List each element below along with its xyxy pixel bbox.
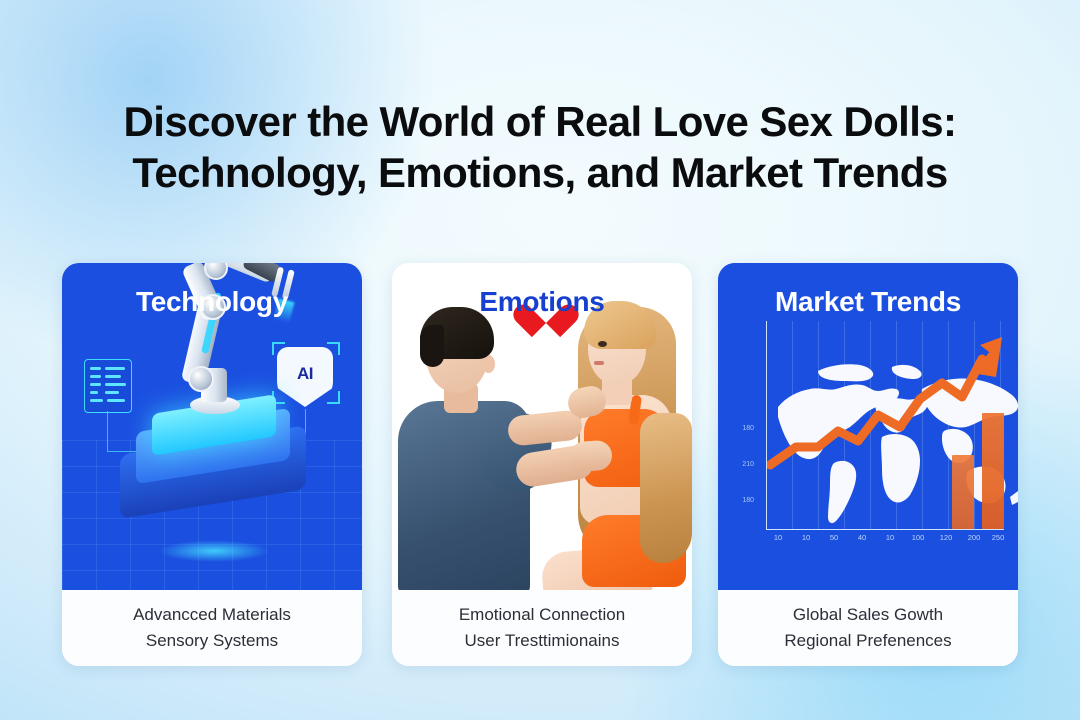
x-tick-label: 250 bbox=[992, 533, 1005, 542]
feature-card-market-trends[interactable]: 180 210 180 10 10 50 40 10 100 120 bbox=[718, 263, 1018, 666]
chart-x-tick-labels: 10 10 50 40 10 100 120 200 250 bbox=[766, 533, 1004, 547]
chart-plot-area: 180 210 180 10 10 50 40 10 100 120 bbox=[748, 321, 1006, 553]
trend-arrow-icon bbox=[766, 315, 1006, 529]
caption-line-2: Regional Prefenences bbox=[784, 629, 951, 653]
robot-joint-icon bbox=[204, 263, 228, 280]
x-tick-label: 40 bbox=[858, 533, 866, 542]
page-title: Discover the World of Real Love Sex Doll… bbox=[0, 96, 1080, 198]
emotions-heading: Emotions bbox=[392, 286, 692, 318]
page-title-line-2: Technology, Emotions, and Market Trends bbox=[0, 147, 1080, 198]
technology-heading: Technology bbox=[62, 286, 362, 318]
man-hair-side-icon bbox=[420, 325, 444, 367]
feature-card-list: AI bbox=[0, 263, 1080, 666]
x-tick-label: 10 bbox=[886, 533, 894, 542]
platform-glow-icon bbox=[158, 540, 270, 562]
x-tick-label: 10 bbox=[802, 533, 810, 542]
x-tick-label: 200 bbox=[968, 533, 981, 542]
caption-line-1: Emotional Connection bbox=[459, 603, 625, 627]
y-tick-label: 210 bbox=[742, 461, 754, 468]
man-arm-icon bbox=[507, 409, 584, 447]
x-tick-label: 10 bbox=[774, 533, 782, 542]
x-tick-label: 50 bbox=[830, 533, 838, 542]
y-tick-label: 180 bbox=[742, 497, 754, 504]
chart-y-axis bbox=[766, 321, 767, 529]
chart-x-axis bbox=[766, 529, 1004, 530]
caption-line-2: User Tresttimionains bbox=[465, 629, 620, 653]
caption-line-1: Global Sales Gowth bbox=[793, 603, 943, 627]
feature-card-technology[interactable]: AI bbox=[62, 263, 362, 666]
technology-caption: Advancced Materials Sensory Systems bbox=[62, 590, 362, 666]
caption-line-1: Advancced Materials bbox=[133, 603, 291, 627]
feature-card-emotions[interactable]: Emotions Emotional Connection User Trest… bbox=[392, 263, 692, 666]
x-tick-label: 120 bbox=[940, 533, 953, 542]
doll-eye-icon bbox=[598, 341, 607, 347]
market-trends-heading: Market Trends bbox=[718, 286, 1018, 318]
doll-lips-icon bbox=[594, 361, 604, 365]
y-tick-label: 180 bbox=[742, 425, 754, 432]
infographic-canvas: Discover the World of Real Love Sex Doll… bbox=[0, 0, 1080, 720]
caption-line-2: Sensory Systems bbox=[146, 629, 278, 653]
x-tick-label: 100 bbox=[912, 533, 925, 542]
market-trends-caption: Global Sales Gowth Regional Prefenences bbox=[718, 590, 1018, 666]
doll-hair-curl-icon bbox=[640, 413, 692, 563]
robot-joint-icon bbox=[188, 366, 214, 392]
emotions-caption: Emotional Connection User Tresttimionain… bbox=[392, 590, 692, 666]
page-title-line-1: Discover the World of Real Love Sex Doll… bbox=[0, 96, 1080, 147]
